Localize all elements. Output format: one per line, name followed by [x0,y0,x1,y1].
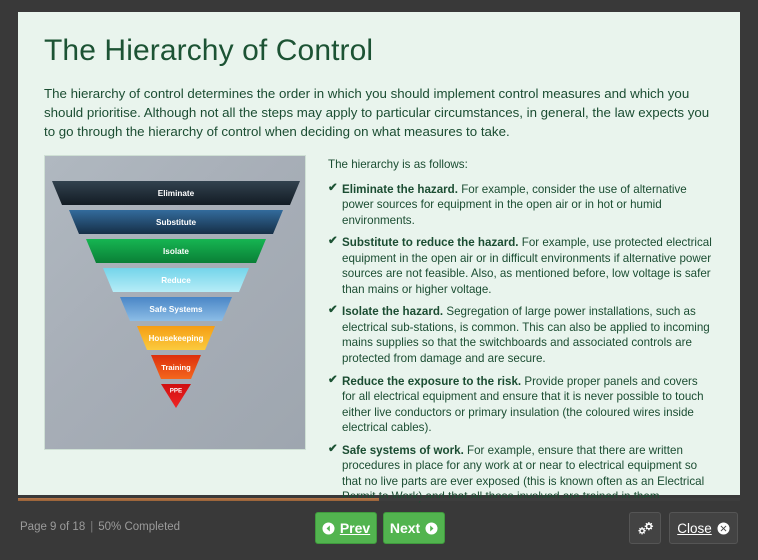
prev-button[interactable]: Prev [315,512,377,544]
funnel-label-ppe: PPE [170,388,182,395]
list-item: ✔Reduce the exposure to the risk. Provid… [328,374,714,436]
player-toolbar: Page 9 of 18|50% Completed Prev Next [0,503,758,560]
slide-panel: The Hierarchy of Control The hierarchy o… [18,12,740,495]
funnel-label-housekeeping: Housekeeping [149,334,204,343]
times-circle-icon [717,522,730,535]
slide-body-columns: Eliminate Substitute Isolate Reduce [44,155,714,512]
prev-button-label: Prev [340,520,370,536]
check-icon: ✔ [328,234,338,249]
funnel-graphic: Eliminate Substitute Isolate Reduce [45,178,306,430]
list-lead-text: The hierarchy is as follows: [328,157,714,173]
list-item: ✔Eliminate the hazard. For example, cons… [328,182,714,229]
list-item-term: Substitute to reduce the hazard. [342,236,519,249]
funnel-label-safe-systems: Safe Systems [149,305,203,314]
settings-button[interactable] [629,512,661,544]
list-item-term: Safe systems of work. [342,444,464,457]
progress-bar-fill [18,498,379,501]
check-icon: ✔ [328,181,338,196]
next-button[interactable]: Next [383,512,445,544]
page-title: The Hierarchy of Control [44,34,714,68]
check-icon: ✔ [328,303,338,318]
list-item-term: Reduce the exposure to the risk. [342,375,521,388]
completion-indicator: 50% Completed [98,521,180,533]
close-button-label: Close [677,521,712,536]
cogs-icon [637,521,654,536]
intro-paragraph: The hierarchy of control determines the … [44,84,714,141]
funnel-svg: Eliminate Substitute Isolate Reduce [45,178,306,430]
check-icon: ✔ [328,373,338,388]
close-button[interactable]: Close [669,512,738,544]
slide-content: The Hierarchy of Control The hierarchy o… [18,12,740,512]
hierarchy-list-column: The hierarchy is as follows: ✔Eliminate … [328,155,714,512]
arrow-circle-left-icon [322,522,335,535]
status-text: Page 9 of 18|50% Completed [20,521,180,533]
page-indicator: Page 9 of 18 [20,521,85,533]
list-item-term: Isolate the hazard. [342,305,443,318]
list-item: ✔Safe systems of work. For example, ensu… [328,443,714,505]
list-item: ✔Substitute to reduce the hazard. For ex… [328,235,714,297]
next-button-label: Next [390,520,420,536]
hierarchy-list: ✔Eliminate the hazard. For example, cons… [328,182,714,505]
course-player: The Hierarchy of Control The hierarchy o… [0,0,758,560]
status-separator: | [85,521,98,533]
funnel-label-training: Training [161,363,191,372]
funnel-label-eliminate: Eliminate [158,189,195,198]
arrow-circle-right-icon [425,522,438,535]
progress-bar-track [18,498,740,501]
list-item: ✔Isolate the hazard. Segregation of larg… [328,304,714,366]
list-item-term: Eliminate the hazard. [342,183,458,196]
funnel-label-reduce: Reduce [161,276,191,285]
funnel-label-isolate: Isolate [163,247,189,256]
funnel-label-substitute: Substitute [156,218,196,227]
check-icon: ✔ [328,442,338,457]
hierarchy-funnel-figure: Eliminate Substitute Isolate Reduce [44,155,306,450]
